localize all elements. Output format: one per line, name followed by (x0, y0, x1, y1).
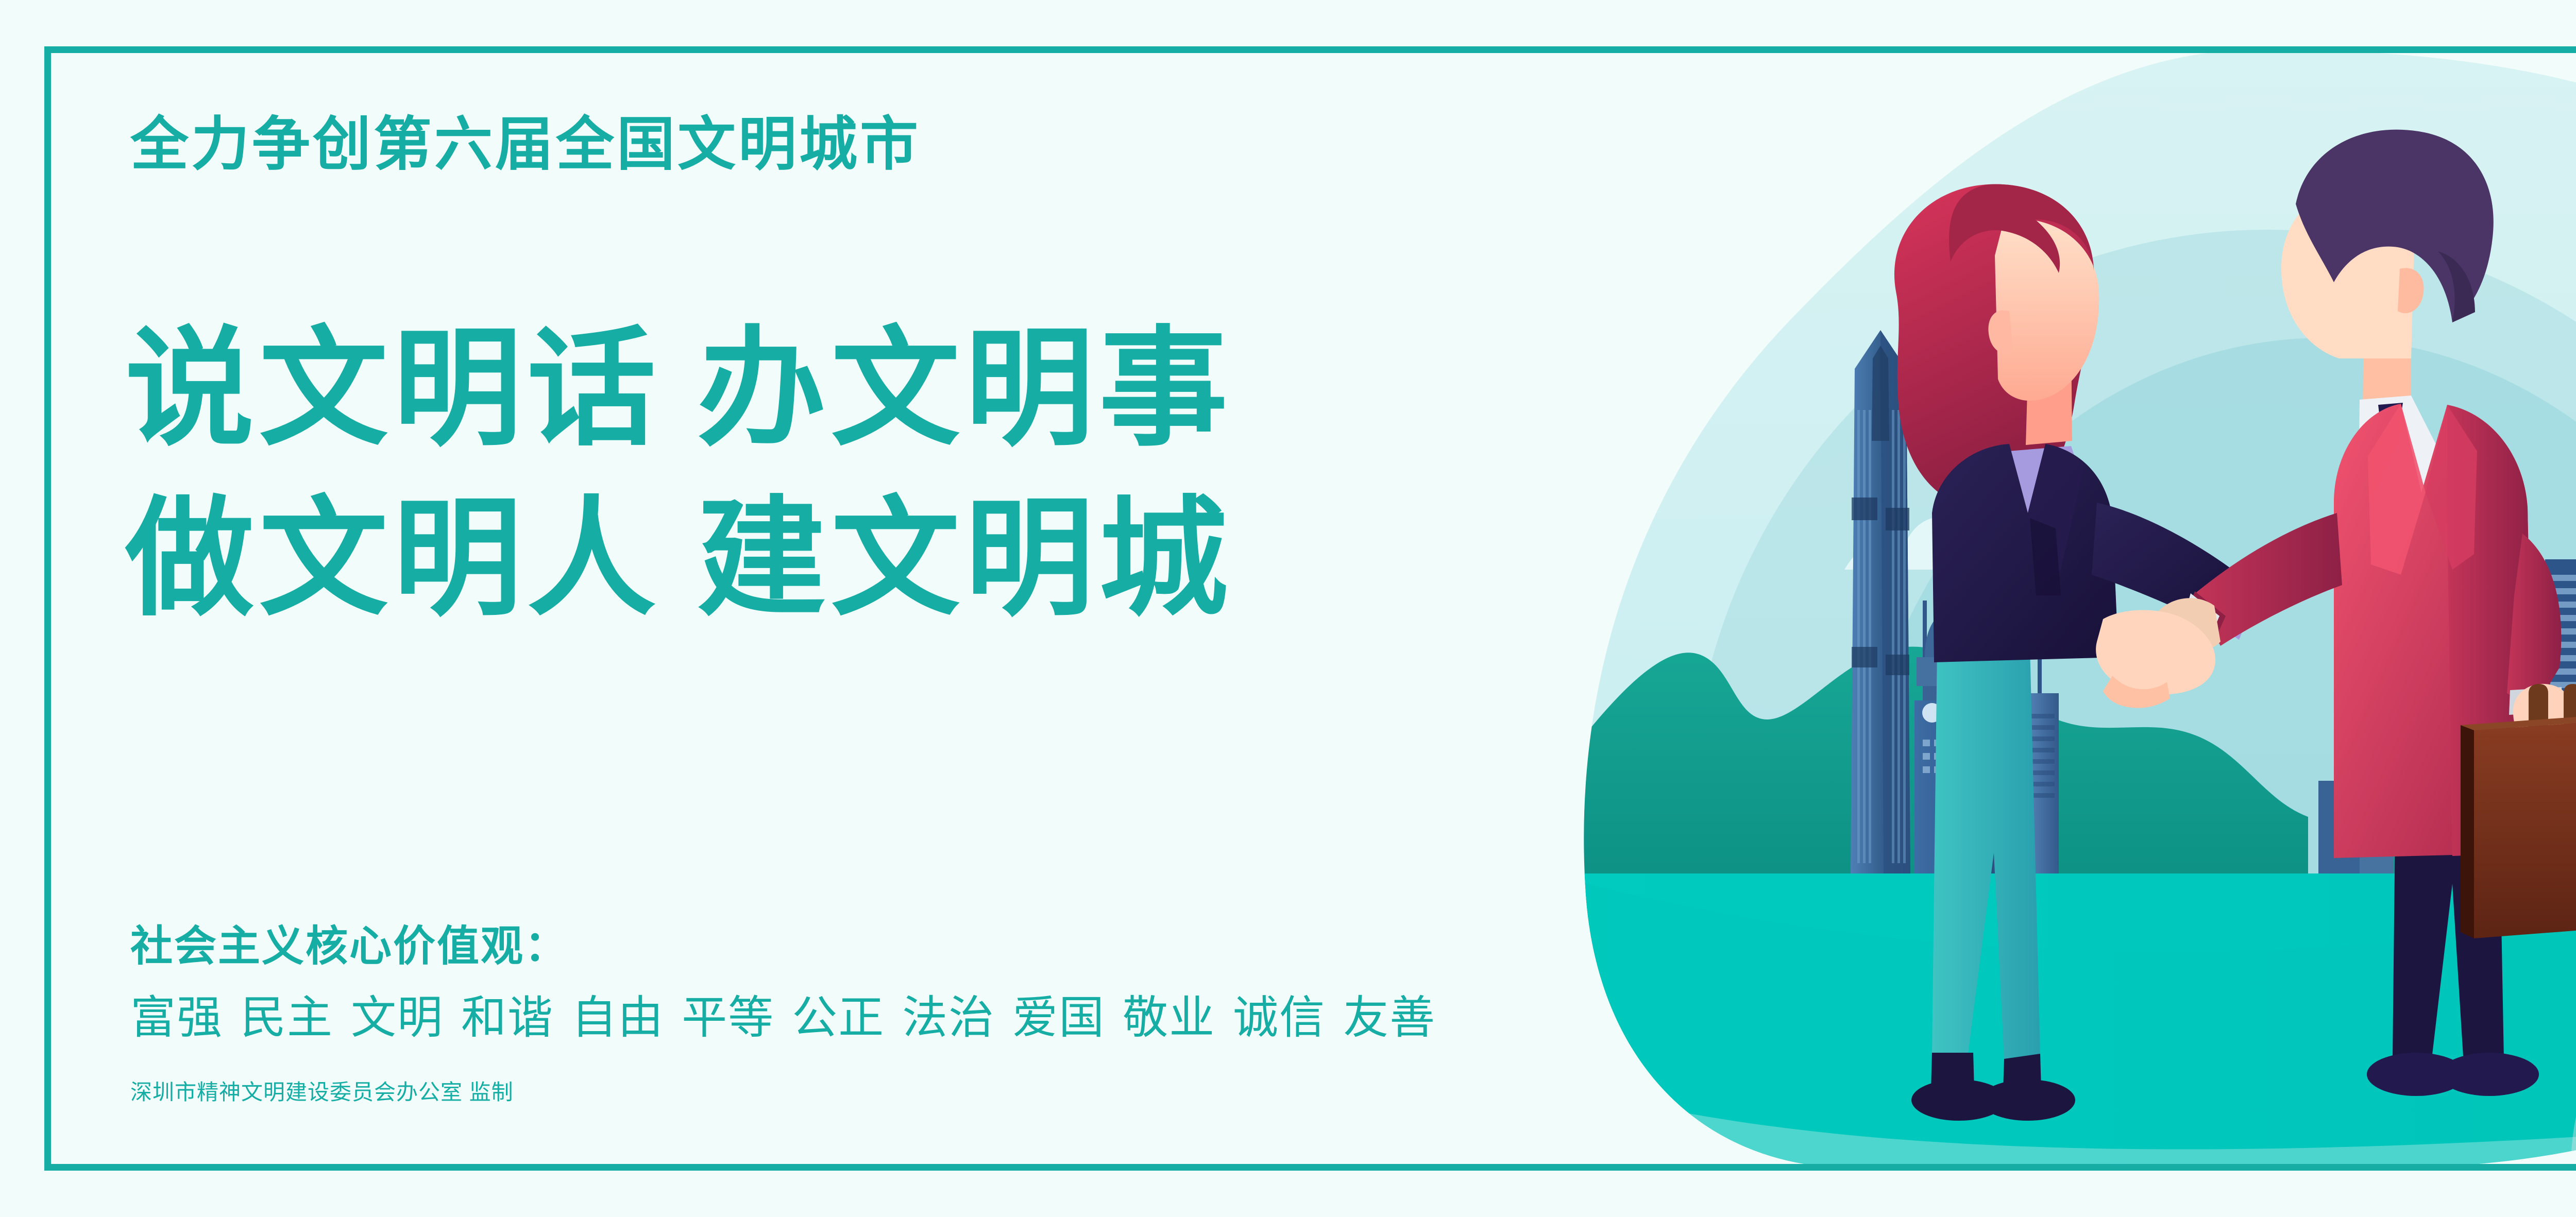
page-headline: 全力争创第六届全国文明城市 (130, 115, 921, 174)
core-value-item: 民主 (241, 992, 333, 1043)
slogan-line-2: 做文明人建文明城 (125, 474, 1233, 644)
slogan-phrase-1: 说文明话 (125, 317, 661, 460)
core-value-item: 平等 (682, 992, 774, 1043)
text-column: 全力争创第六届全国文明城市 说文明话办文明事 做文明人建文明城 社会主义核心价值… (0, 0, 1674, 1217)
slogan-phrase-2: 办文明事 (697, 317, 1233, 460)
slogan-line-1: 说文明话办文明事 (125, 304, 1233, 474)
core-value-item: 公正 (792, 992, 885, 1043)
poster-root: 全力争创第六届全国文明城市 说文明话办文明事 做文明人建文明城 社会主义核心价值… (0, 0, 2576, 1217)
core-value-item: 法治 (902, 992, 995, 1043)
core-value-item: 自由 (571, 992, 664, 1043)
core-values-list: 富强民主文明和谐自由平等公正法治爱国敬业诚信友善 (130, 995, 1436, 1040)
main-slogan: 说文明话办文明事 做文明人建文明城 (125, 304, 1233, 644)
slogan-phrase-3: 做文明人 (125, 487, 661, 630)
core-value-item: 诚信 (1233, 992, 1326, 1043)
core-values-label: 社会主义核心价值观： (130, 925, 568, 968)
core-value-item: 友善 (1343, 992, 1436, 1043)
core-value-item: 敬业 (1123, 992, 1215, 1043)
core-value-item: 富强 (130, 992, 223, 1043)
illustration-handshake-city (1577, 49, 2576, 1168)
credit-line: 深圳市精神文明建设委员会办公室 监制 (130, 1082, 514, 1103)
core-value-item: 爱国 (1012, 992, 1105, 1043)
core-value-item: 和谐 (461, 992, 554, 1043)
slogan-phrase-4: 建文明城 (697, 487, 1233, 630)
core-value-item: 文明 (351, 992, 444, 1043)
